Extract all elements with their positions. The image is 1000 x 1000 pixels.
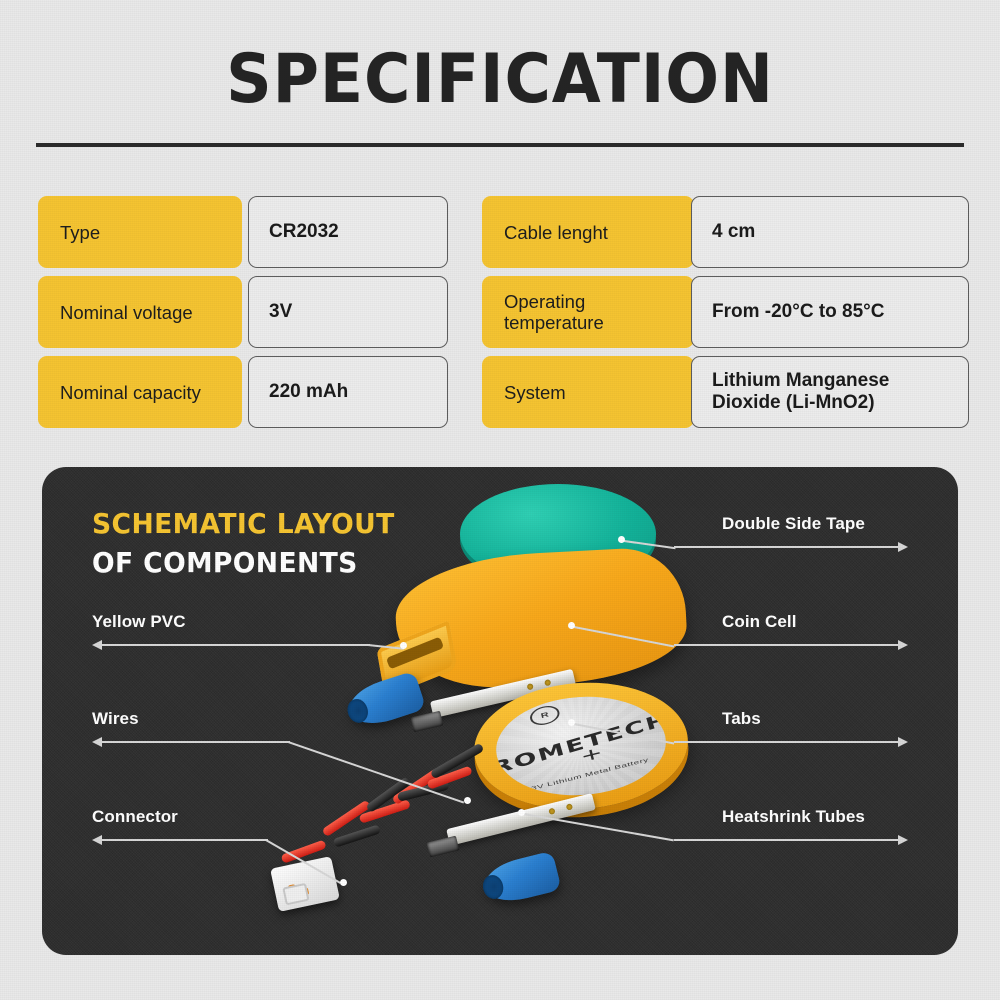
spec-value: CR2032 bbox=[248, 196, 448, 268]
leader-endpoint bbox=[518, 809, 525, 816]
spec-row: Nominal capacity 220 mAh bbox=[38, 356, 482, 436]
tab-end-lower bbox=[427, 836, 460, 858]
callout-label: Coin Cell bbox=[722, 612, 797, 632]
spec-row: System Lithium Manganese Dioxide (Li-MnO… bbox=[482, 356, 926, 436]
schematic-heading-line2: OF COMPONENTS bbox=[92, 546, 395, 579]
specification-page: SPECIFICATION Type CR2032 Nominal voltag… bbox=[0, 0, 1000, 1000]
coin-cell-face: R ROMETECH + 3V Lithium Metal Battery bbox=[493, 691, 669, 801]
spec-label: Type bbox=[38, 196, 242, 268]
spec-label: System bbox=[482, 356, 694, 428]
callout-coin-cell: Coin Cell bbox=[722, 612, 797, 632]
callout-heatshrink-tubes: Heatshrink Tubes bbox=[722, 807, 865, 827]
weld-dimple bbox=[548, 808, 555, 815]
leader-arrow-icon bbox=[898, 835, 908, 845]
spec-row: Nominal voltage 3V bbox=[38, 276, 482, 356]
leader-arrow-icon bbox=[92, 640, 102, 650]
spec-row: Operating temperature From -20°C to 85°C bbox=[482, 276, 926, 356]
leader-endpoint bbox=[400, 642, 407, 649]
spec-row: Type CR2032 bbox=[38, 196, 482, 276]
callout-label: Wires bbox=[92, 709, 139, 729]
tube-opening bbox=[480, 873, 505, 901]
spec-label: Nominal capacity bbox=[38, 356, 242, 428]
callout-wires: Wires bbox=[92, 709, 139, 729]
leader-endpoint bbox=[568, 622, 575, 629]
leader-line bbox=[102, 839, 268, 841]
connector-pin bbox=[301, 887, 309, 895]
leader-endpoint bbox=[464, 797, 471, 804]
leader-line bbox=[102, 741, 290, 743]
callout-label: Double Side Tape bbox=[722, 514, 865, 534]
leader-arrow-icon bbox=[898, 640, 908, 650]
spec-value: 4 cm bbox=[691, 196, 969, 268]
leader-endpoint bbox=[340, 879, 347, 886]
spec-column-left: Type CR2032 Nominal voltage 3V Nominal c… bbox=[38, 196, 482, 436]
tube-opening bbox=[345, 696, 371, 725]
coin-cell-brand: ROMETECH bbox=[493, 709, 669, 778]
spec-label: Nominal voltage bbox=[38, 276, 242, 348]
spec-value: 220 mAh bbox=[248, 356, 448, 428]
leader-arrow-icon bbox=[898, 737, 908, 747]
spec-value: From -20°C to 85°C bbox=[691, 276, 969, 348]
spec-column-right: Cable lenght 4 cm Operating temperature … bbox=[482, 196, 926, 436]
spec-label: Cable lenght bbox=[482, 196, 694, 268]
weld-dimple bbox=[566, 803, 573, 810]
leader-line bbox=[674, 741, 900, 743]
heatshrink-tube-lower bbox=[480, 851, 561, 908]
connector-part bbox=[270, 856, 340, 912]
leader-line bbox=[674, 839, 900, 841]
page-title: SPECIFICATION bbox=[35, 46, 965, 114]
leader-arrow-icon bbox=[92, 835, 102, 845]
callout-connector: Connector bbox=[92, 807, 178, 827]
brand-mark-icon: R bbox=[528, 703, 561, 728]
spec-row: Cable lenght 4 cm bbox=[482, 196, 926, 276]
connector-pin bbox=[288, 884, 296, 892]
leader-line bbox=[102, 644, 370, 646]
spec-value: 3V bbox=[248, 276, 448, 348]
callout-label: Yellow PVC bbox=[92, 612, 186, 632]
spec-value: Lithium Manganese Dioxide (Li-MnO2) bbox=[691, 356, 969, 428]
leader-endpoint bbox=[618, 536, 625, 543]
schematic-heading-line1: SCHEMATIC LAYOUT bbox=[92, 507, 395, 540]
schematic-panel: SCHEMATIC LAYOUT OF COMPONENTS R ROMETEC… bbox=[42, 467, 958, 955]
weld-dimple bbox=[544, 679, 551, 686]
leader-line bbox=[674, 546, 900, 548]
spec-label: Operating temperature bbox=[482, 276, 694, 348]
leader-arrow-icon bbox=[92, 737, 102, 747]
callout-yellow-pvc: Yellow PVC bbox=[92, 612, 186, 632]
callout-tabs: Tabs bbox=[722, 709, 761, 729]
leader-endpoint bbox=[568, 719, 575, 726]
callout-label: Heatshrink Tubes bbox=[722, 807, 865, 827]
callout-label: Connector bbox=[92, 807, 178, 827]
title-divider bbox=[36, 143, 964, 147]
schematic-heading: SCHEMATIC LAYOUT OF COMPONENTS bbox=[92, 507, 411, 579]
weld-dimple bbox=[527, 683, 534, 690]
callout-label: Tabs bbox=[722, 709, 761, 729]
leader-line bbox=[674, 644, 900, 646]
tab-end-upper bbox=[411, 711, 444, 732]
callout-double-side-tape: Double Side Tape bbox=[722, 514, 865, 534]
leader-arrow-icon bbox=[898, 542, 908, 552]
